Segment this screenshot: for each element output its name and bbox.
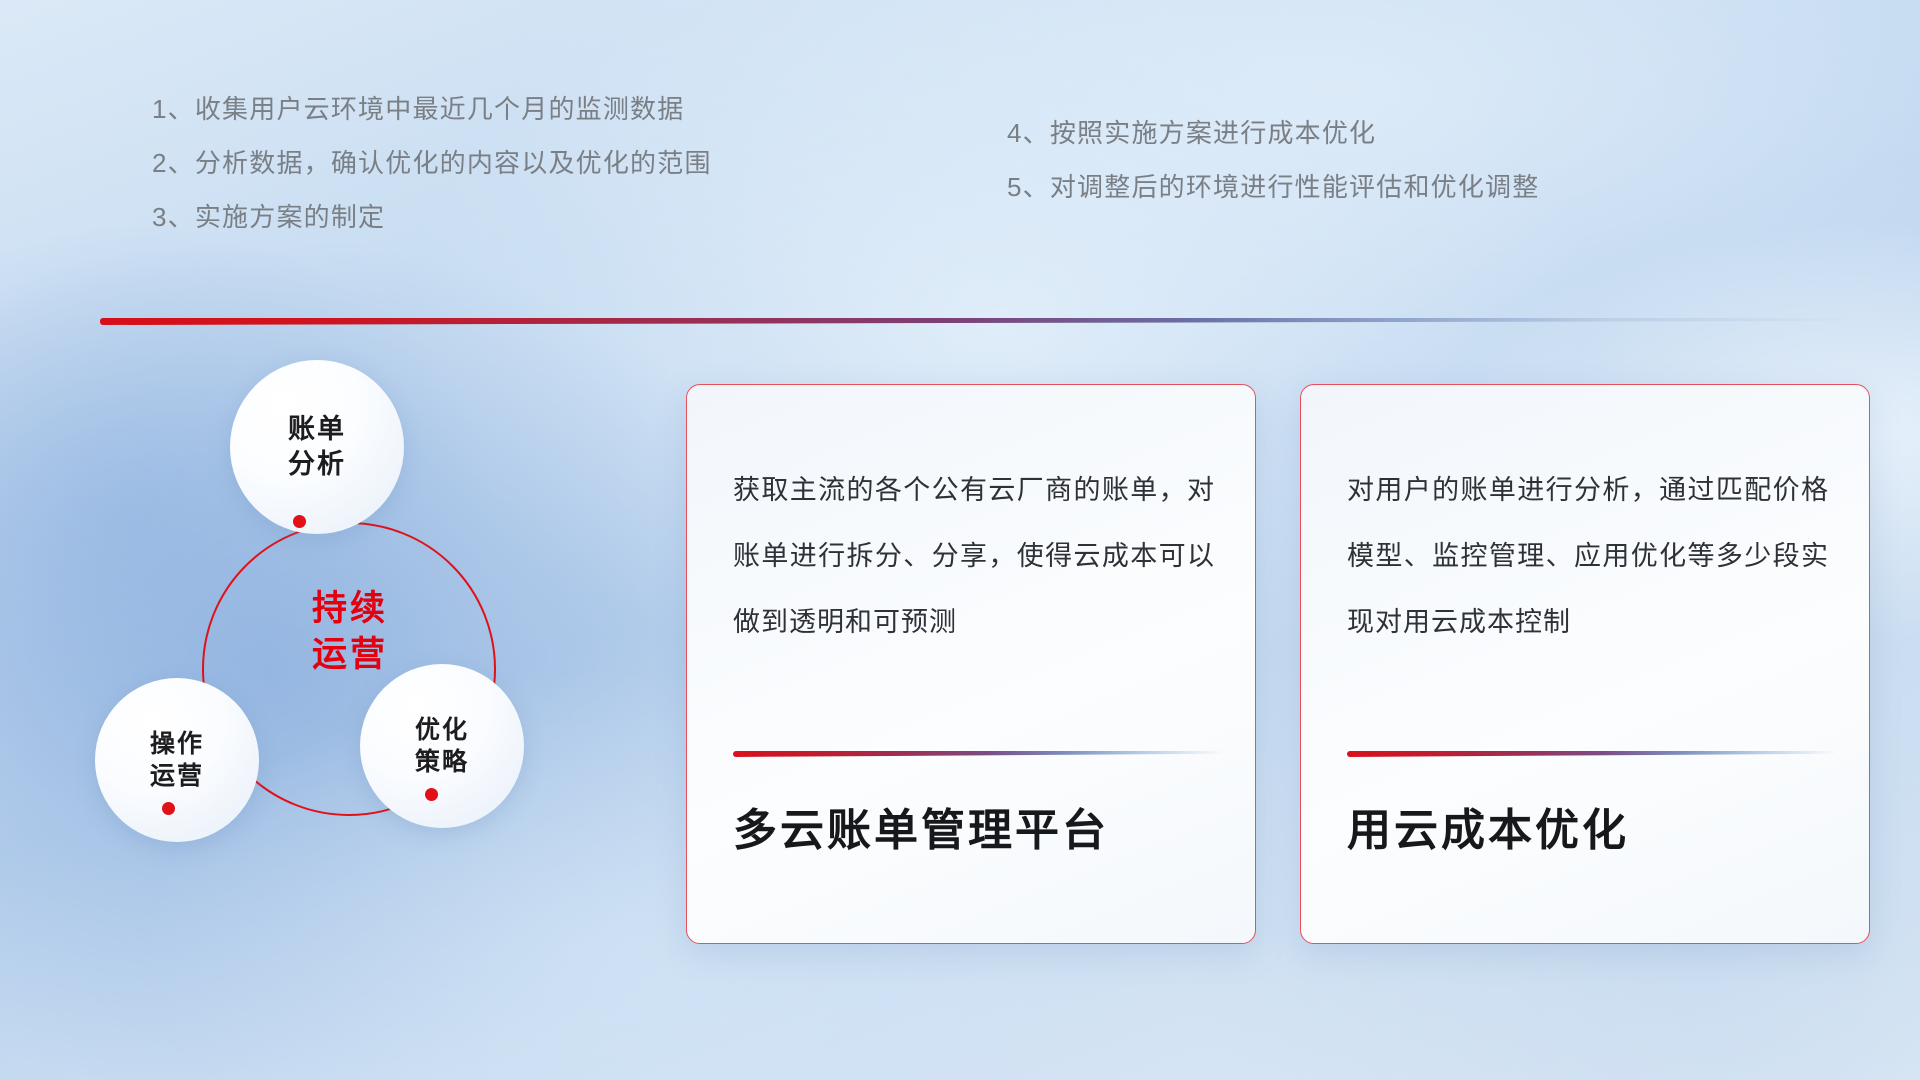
bullet-item: 1、收集用户云环境中最近几个月的监测数据 (152, 96, 712, 122)
node-label-line2: 策略 (415, 746, 469, 778)
card-multi-cloud-bill-platform[interactable]: 获取主流的各个公有云厂商的账单，对账单进行拆分、分享，使得云成本可以做到透明和可… (686, 384, 1256, 944)
bullet-list-left: 1、收集用户云环境中最近几个月的监测数据 2、分析数据，确认优化的内容以及优化的… (152, 96, 712, 258)
card-body-text: 获取主流的各个公有云厂商的账单，对账单进行拆分、分享，使得云成本可以做到透明和可… (733, 457, 1215, 655)
card-cloud-cost-optimization[interactable]: 对用户的账单进行分析，通过匹配价格模型、监控管理、应用优化等多少段实现对用云成本… (1300, 384, 1870, 944)
diagram-center-label: 持续 运营 (250, 586, 450, 677)
node-label-line2: 运营 (150, 760, 204, 792)
bullet-item: 4、按照实施方案进行成本优化 (1007, 120, 1539, 146)
node-label-line2: 分析 (288, 447, 346, 482)
bullet-list-right: 4、按照实施方案进行成本优化 5、对调整后的环境进行性能评估和优化调整 (1007, 120, 1539, 228)
diagram-node-dot-left (162, 802, 175, 815)
diagram-node-optimization-strategy[interactable]: 优化 策略 (360, 664, 524, 828)
node-label-line1: 账单 (288, 412, 346, 447)
card-title: 多云账单管理平台 (733, 805, 1109, 858)
diagram-node-operation[interactable]: 操作 运营 (95, 678, 259, 842)
center-label-line1: 持续 (250, 586, 450, 632)
diagram-node-dot-top (293, 515, 306, 528)
bullet-item: 5、对调整后的环境进行性能评估和优化调整 (1007, 174, 1539, 200)
card-accent-rule (1347, 751, 1837, 757)
bullet-item: 3、实施方案的制定 (152, 204, 712, 230)
node-label-line1: 操作 (150, 728, 204, 760)
node-label-line1: 优化 (415, 714, 469, 746)
diagram-node-dot-right (425, 788, 438, 801)
card-title: 用云成本优化 (1347, 805, 1629, 858)
bullet-item: 2、分析数据，确认优化的内容以及优化的范围 (152, 150, 712, 176)
continuous-operation-diagram: 持续 运营 账单 分析 操作 运营 优化 策略 (95, 360, 565, 920)
card-accent-rule (733, 751, 1223, 757)
diagram-node-bill-analysis[interactable]: 账单 分析 (230, 360, 404, 534)
card-body-text: 对用户的账单进行分析，通过匹配价格模型、监控管理、应用优化等多少段实现对用云成本… (1347, 457, 1829, 655)
